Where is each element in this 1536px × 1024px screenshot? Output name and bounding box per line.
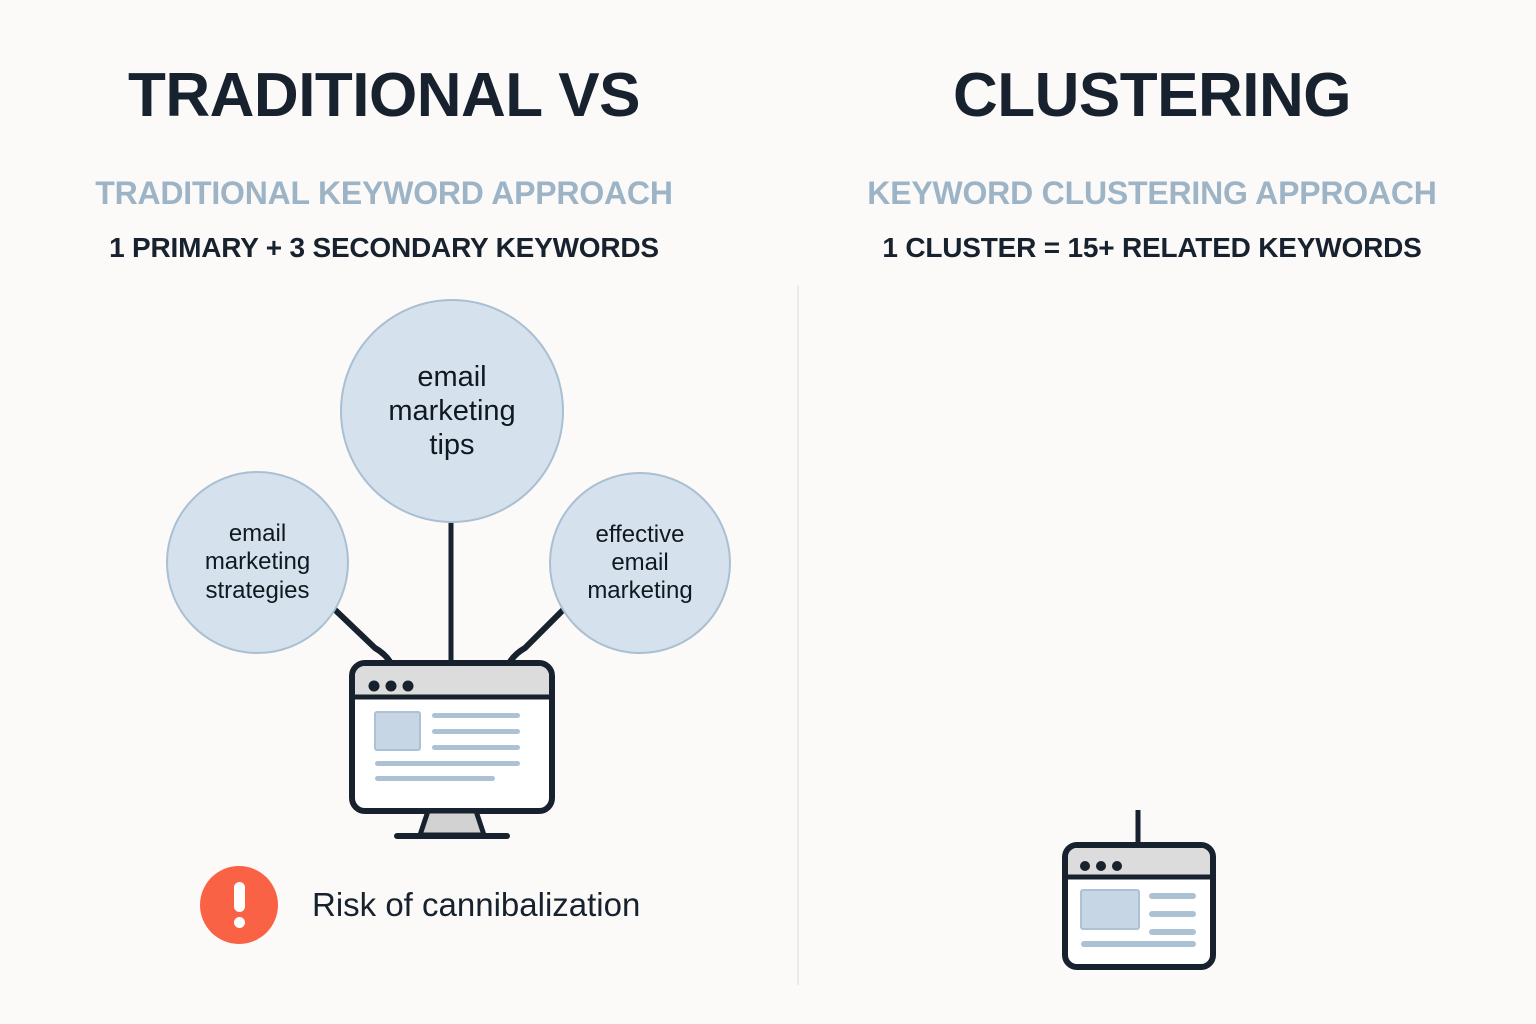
primary-keyword-line-3: tips (388, 428, 515, 462)
infographic-canvas: TRADITIONAL VS TRADITIONAL KEYWORD APPRO… (0, 0, 1536, 1024)
browser-window-icon (1065, 845, 1213, 967)
clustering-column: CLUSTERING KEYWORD CLUSTERING APPROACH 1… (768, 0, 1536, 1024)
cannibalization-status-label: Risk of cannibalization (312, 886, 640, 924)
secondary-2-line-3: marketing (587, 577, 692, 605)
primary-keyword-bubble[interactable]: email marketing tips (340, 299, 564, 523)
secondary-1-line-2: marketing (205, 548, 310, 576)
secondary-2-line-1: effective (587, 521, 692, 549)
traditional-column: TRADITIONAL VS TRADITIONAL KEYWORD APPRO… (0, 0, 768, 1024)
alert-exclamation-icon (200, 866, 278, 944)
secondary-keyword-bubble-1[interactable]: email marketing strategies (166, 471, 349, 654)
primary-keyword-line-2: marketing (388, 394, 515, 428)
monitor-icon (352, 663, 552, 836)
secondary-1-line-1: email (205, 520, 310, 548)
secondary-2-line-2: email (587, 549, 692, 577)
clustering-diagram-svg (768, 0, 1536, 1024)
primary-keyword-line-1: email (388, 360, 515, 394)
secondary-1-line-3: strategies (205, 577, 310, 605)
cannibalization-status-row: Risk of cannibalization (200, 866, 640, 944)
secondary-keyword-bubble-2[interactable]: effective email marketing (549, 472, 731, 654)
